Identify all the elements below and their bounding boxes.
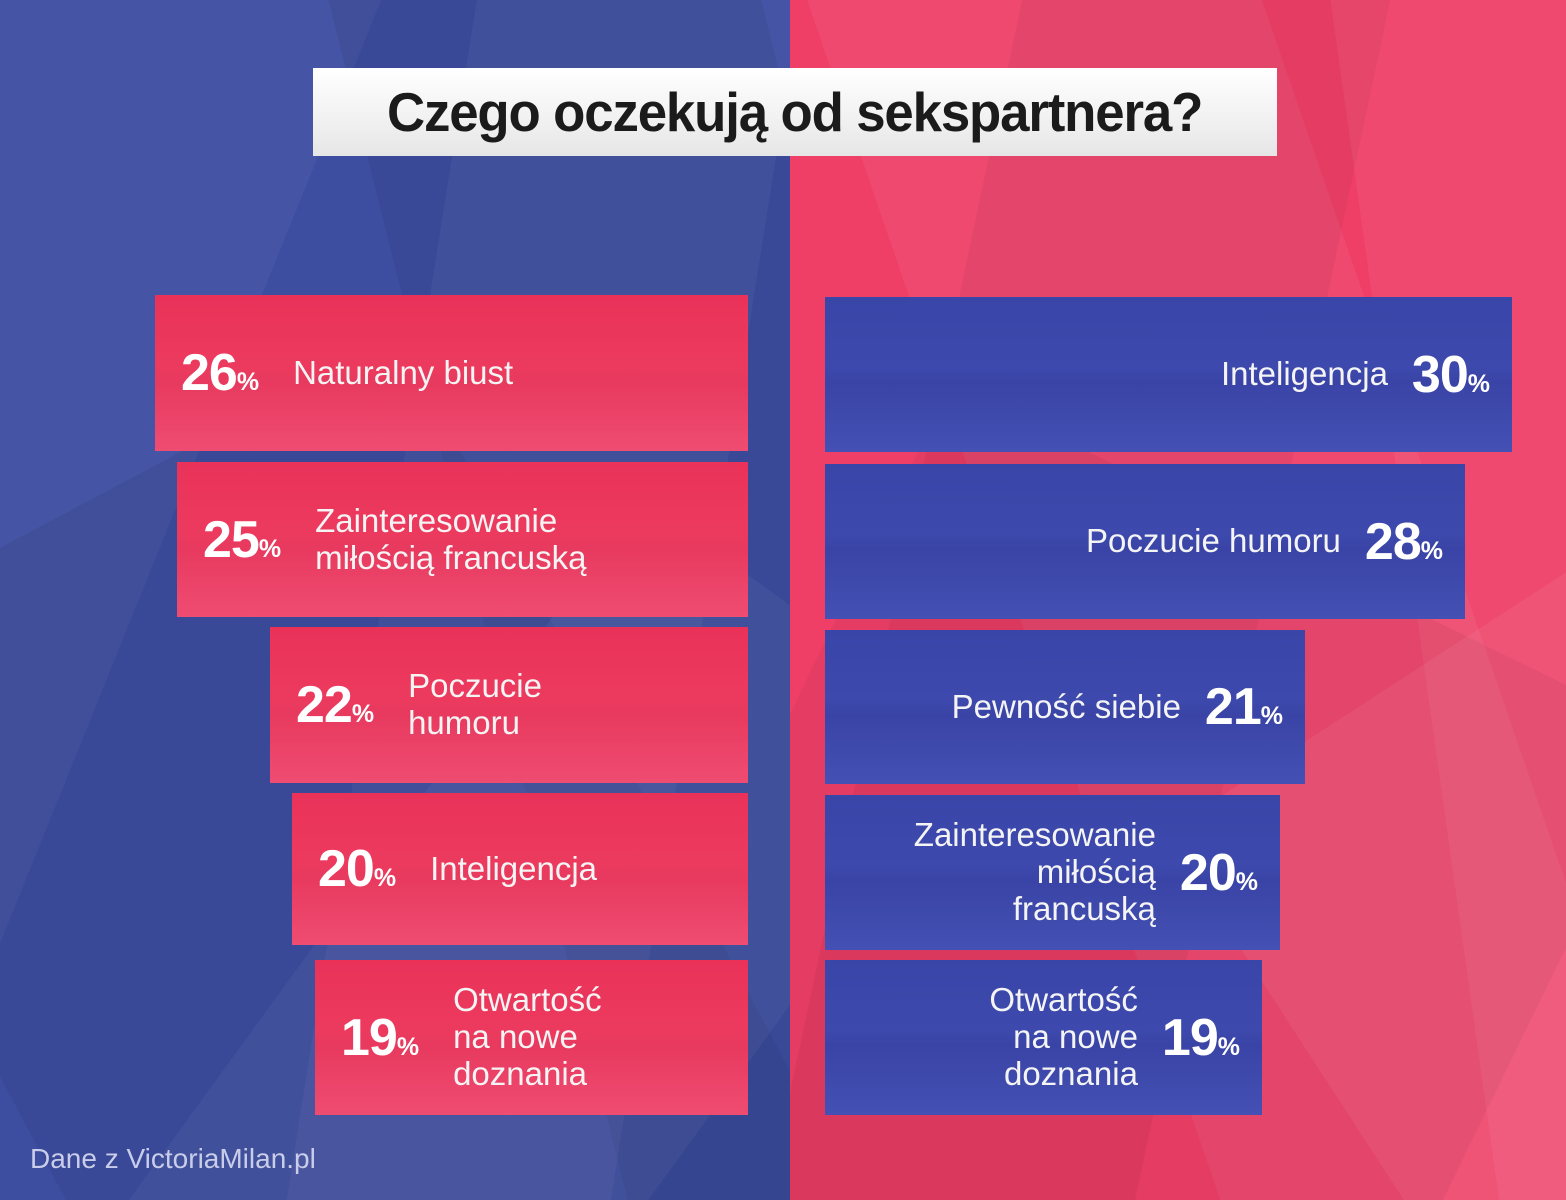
source-footer: Dane z VictoriaMilan.pl [30, 1143, 316, 1175]
bar-right-1-label: Poczucie humoru [1086, 523, 1341, 560]
bar-left-0-label: Naturalny biust [293, 355, 513, 392]
bar-left-3-percent: 20% [318, 843, 396, 895]
bars-container: 26% Naturalny biust 25% Zainteresowanie … [0, 0, 1566, 1200]
bar-right-0[interactable]: Inteligencja 30% [825, 297, 1512, 452]
bar-right-3-percent: 20% [1180, 847, 1258, 899]
bar-right-0-percent: 30% [1412, 349, 1490, 401]
bar-right-1[interactable]: Poczucie humoru 28% [825, 464, 1465, 619]
bar-left-2-percent: 22% [296, 679, 374, 731]
title-banner: Czego oczekują od sekspartnera? [313, 68, 1277, 156]
bar-left-1[interactable]: 25% Zainteresowanie miłością francuską [177, 462, 748, 617]
bar-right-4-percent: 19% [1162, 1012, 1240, 1064]
bar-left-0[interactable]: 26% Naturalny biust [155, 295, 748, 451]
bar-left-4-label: Otwartość na nowe doznania [453, 982, 602, 1093]
bar-left-2-label: Poczucie humoru [408, 668, 542, 742]
bar-right-0-label: Inteligencja [1221, 356, 1388, 393]
bar-left-3-label: Inteligencja [430, 851, 597, 888]
bar-right-3[interactable]: Zainteresowanie miłością francuską 20% [825, 795, 1280, 950]
bar-right-4-label: Otwartość na nowe doznania [989, 982, 1138, 1093]
bar-right-4[interactable]: Otwartość na nowe doznania 19% [825, 960, 1262, 1115]
bar-left-1-label: Zainteresowanie miłością francuską [315, 503, 586, 577]
bar-left-3[interactable]: 20% Inteligencja [292, 793, 748, 945]
bar-right-2-label: Pewność siebie [952, 689, 1181, 726]
infographic-canvas: Czego oczekują od sekspartnera? 26% Natu… [0, 0, 1566, 1200]
bar-left-2[interactable]: 22% Poczucie humoru [270, 627, 748, 783]
bar-left-4-percent: 19% [341, 1012, 419, 1064]
bar-right-1-percent: 28% [1365, 516, 1443, 568]
bar-left-1-percent: 25% [203, 514, 281, 566]
bar-left-0-percent: 26% [181, 347, 259, 399]
page-title: Czego oczekują od sekspartnera? [387, 80, 1202, 144]
bar-left-4[interactable]: 19% Otwartość na nowe doznania [315, 960, 748, 1115]
bar-right-3-label: Zainteresowanie miłością francuską [914, 817, 1156, 928]
bar-right-2[interactable]: Pewność siebie 21% [825, 630, 1305, 784]
bar-right-2-percent: 21% [1205, 681, 1283, 733]
